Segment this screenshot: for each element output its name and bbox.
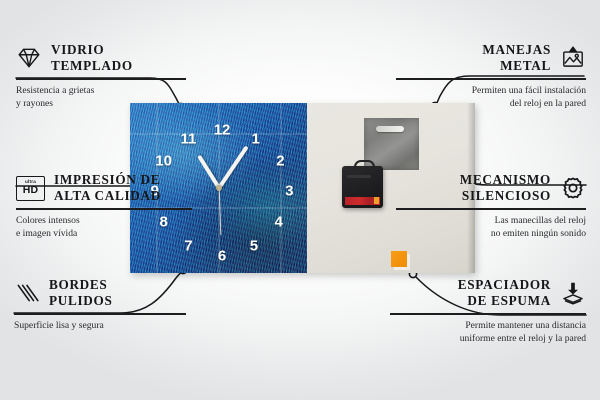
clock-hour-hand (197, 155, 221, 189)
feature-subtitle-line2: y rayones (16, 97, 186, 110)
feature-subtitle: Superficie lisa y segura (14, 319, 186, 332)
mechanism-detail (347, 175, 371, 178)
picture-hanger-icon (560, 45, 586, 71)
infographic-canvas: 12 1 2 3 4 5 6 7 8 9 10 11 (0, 0, 600, 400)
feature-subtitle: Permite mantener una distancia uniforme … (390, 319, 586, 345)
feature-divider (396, 208, 586, 209)
clock-numeral-12: 12 (214, 123, 231, 138)
clock-numeral-6: 6 (218, 249, 226, 264)
clock-numeral-5: 5 (250, 238, 258, 253)
clock-center-hub (216, 185, 222, 191)
feature-title: MANEJAS METAL (482, 42, 551, 74)
clock-numeral-7: 7 (184, 238, 192, 253)
feature-title-line1: ESPACIADOR (458, 277, 551, 293)
clock-numeral-10: 10 (155, 153, 172, 168)
feature-subtitle-line1: Las manecillas del reloj (396, 214, 586, 227)
polished-edges-icon (14, 280, 40, 306)
clock-numeral-11: 11 (180, 131, 196, 146)
feature-manejas-metal: MANEJAS METAL Permiten una fácil instala… (396, 42, 586, 110)
feature-vidrio-templado: VIDRIO TEMPLADO Resistencia a grietas y … (16, 42, 186, 110)
feature-title-line1: MECANISMO (460, 172, 551, 188)
feature-subtitle-line2: uniforme entre el reloj y la pared (390, 332, 586, 345)
feature-title: MECANISMO SILENCIOSO (460, 172, 551, 204)
feature-subtitle: Resistencia a grietas y rayones (16, 84, 186, 110)
feature-subtitle-line2: no emiten ningún sonido (396, 227, 586, 240)
feature-subtitle-line1: Permiten una fácil instalación (396, 84, 586, 97)
diamond-icon (16, 45, 42, 71)
feature-subtitle-line1: Resistencia a grietas (16, 84, 186, 97)
feature-title-line2: DE ESPUMA (458, 293, 551, 309)
feature-divider (390, 313, 586, 314)
silent-clock-mechanism (342, 166, 383, 208)
clock-numeral-1: 1 (251, 131, 259, 146)
feature-title-line2: PULIDOS (49, 293, 113, 309)
feature-subtitle-line1: Permite mantener una distancia (390, 319, 586, 332)
mechanism-handle (354, 160, 375, 170)
feature-divider (16, 208, 192, 209)
feature-title: BORDES PULIDOS (49, 277, 113, 309)
feature-title-line2: ALTA CALIDAD (54, 188, 161, 204)
gear-icon (560, 175, 586, 201)
feature-title-line2: SILENCIOSO (460, 188, 551, 204)
feature-subtitle-line2: del reloj en la pared (396, 97, 586, 110)
feature-subtitle: Colores intensos e imagen vívida (16, 214, 192, 240)
feature-subtitle-line1: Superficie lisa y segura (14, 319, 186, 332)
feature-subtitle: Permiten una fácil instalación del reloj… (396, 84, 586, 110)
foam-spacer-icon (560, 280, 586, 306)
clock-second-hand (218, 188, 221, 235)
mechanism-chip (374, 197, 379, 204)
feature-title: ESPACIADOR DE ESPUMA (458, 277, 551, 309)
feature-impresion-alta-calidad: ultra HD IMPRESIÓN DE ALTA CALIDAD Color… (16, 172, 192, 240)
foam-spacer (391, 251, 407, 267)
ultra-hd-icon-main-text: HD (23, 185, 39, 196)
feature-divider (14, 313, 186, 314)
feature-espaciador-de-espuma: ESPACIADOR DE ESPUMA Permite mantener un… (390, 277, 586, 345)
feature-title-line2: TEMPLADO (51, 58, 133, 74)
clock-numeral-4: 4 (275, 215, 283, 230)
feature-title-line1: MANEJAS (482, 42, 551, 58)
ultra-hd-icon: ultra HD (16, 176, 45, 201)
clock-numeral-2: 2 (276, 153, 284, 168)
feature-bordes-pulidos: BORDES PULIDOS Superficie lisa y segura (14, 277, 186, 332)
feature-divider (16, 78, 186, 79)
feature-title-line1: BORDES (49, 277, 113, 293)
feature-mecanismo-silencioso: MECANISMO SILENCIOSO Las manecillas del … (396, 172, 586, 240)
feature-subtitle-line1: Colores intensos (16, 214, 192, 227)
clock-minute-hand (217, 145, 248, 189)
feature-divider (396, 78, 586, 79)
feature-title: IMPRESIÓN DE ALTA CALIDAD (54, 172, 161, 204)
feature-subtitle: Las manecillas del reloj no emiten ningú… (396, 214, 586, 240)
feature-title: VIDRIO TEMPLADO (51, 42, 133, 74)
clock-numeral-3: 3 (285, 184, 293, 199)
hanger-slot (376, 126, 404, 132)
feature-title-line1: IMPRESIÓN DE (54, 172, 161, 188)
feature-subtitle-line2: e imagen vívida (16, 227, 192, 240)
feature-title-line2: METAL (482, 58, 551, 74)
feature-title-line1: VIDRIO (51, 42, 133, 58)
